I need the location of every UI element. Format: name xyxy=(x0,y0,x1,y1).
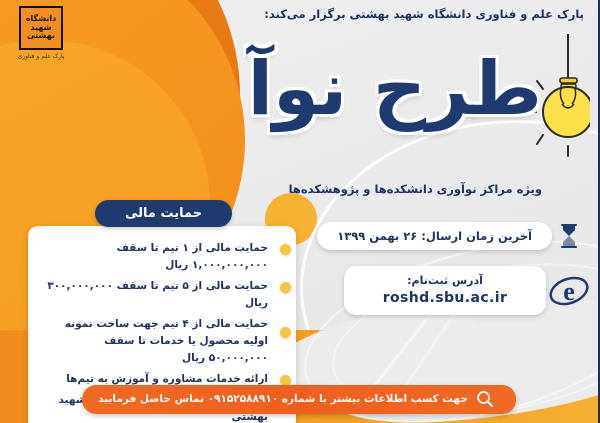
logo-caption: پارک علم و فناوری xyxy=(10,53,72,60)
list-item-label: حمایت مالی از ۵ تیم تا سقف ۳۰۰,۰۰۰,۰۰۰ ر… xyxy=(47,280,268,309)
bullet-dot-icon xyxy=(280,244,291,255)
list-item: حمایت مالی از ۴ تیم جهت ساخت نمونه اولیه… xyxy=(42,316,270,367)
poster-canvas: دانشگاه شهید بهشتی پارک علم و فناوری پار… xyxy=(0,0,600,423)
deadline-pill: آخرین زمان ارسال: ۲۶ بهمن ۱۳۹۹ xyxy=(317,222,552,250)
list-item-label: ارائه خدمات مشاوره و آموزش به تیم‌ها xyxy=(66,373,268,385)
deadline-row: آخرین زمان ارسال: ۲۶ بهمن ۱۳۹۹ xyxy=(317,222,580,250)
page-subtitle: ویژه مراکز نوآوری دانشکده‌ها و پژوهشکده‌… xyxy=(289,182,542,196)
logo-emblem: دانشگاه شهید بهشتی xyxy=(19,6,63,50)
financial-support-badge: حمایت مالی xyxy=(95,200,232,227)
hourglass-icon xyxy=(558,223,580,249)
svg-text:e: e xyxy=(563,277,575,306)
contact-footer: جهت کسب اطلاعات بیشتر با شماره ۰۹۱۵۲۵۸۸۹… xyxy=(82,385,516,414)
bullet-dot-icon xyxy=(280,327,291,338)
contact-text: جهت کسب اطلاعات بیشتر با شماره ۰۹۱۵۲۵۸۸۹… xyxy=(98,393,468,405)
registration-label: آدرس ثبت‌نام: xyxy=(370,274,520,287)
list-item-label: حمایت مالی از ۱ تیم تا سقف ۱,۰۰۰,۰۰۰,۰۰۰… xyxy=(117,242,268,271)
list-item-label: حمایت مالی از ۴ تیم جهت ساخت نمونه اولیه… xyxy=(65,318,268,364)
magnifier-icon xyxy=(476,390,494,408)
list-item: حمایت مالی از ۱ تیم تا سقف ۱,۰۰۰,۰۰۰,۰۰۰… xyxy=(42,240,270,274)
list-item: حمایت مالی از ۵ تیم تا سقف ۳۰۰,۰۰۰,۰۰۰ ر… xyxy=(42,278,270,312)
registration-url[interactable]: roshd.sbu.ac.ir xyxy=(370,290,520,306)
registration-row: e آدرس ثبت‌نام: roshd.sbu.ac.ir xyxy=(344,266,580,315)
registration-card: آدرس ثبت‌نام: roshd.sbu.ac.ir xyxy=(344,266,546,315)
internet-explorer-icon: e xyxy=(548,270,590,312)
page-title: طرح نوآ xyxy=(248,52,542,126)
university-logo: دانشگاه شهید بهشتی پارک علم و فناوری xyxy=(10,6,72,60)
bullet-dot-icon xyxy=(280,282,291,293)
organizer-line: پارک علم و فناوری دانشگاه شهید بهشتی برگ… xyxy=(264,7,584,21)
